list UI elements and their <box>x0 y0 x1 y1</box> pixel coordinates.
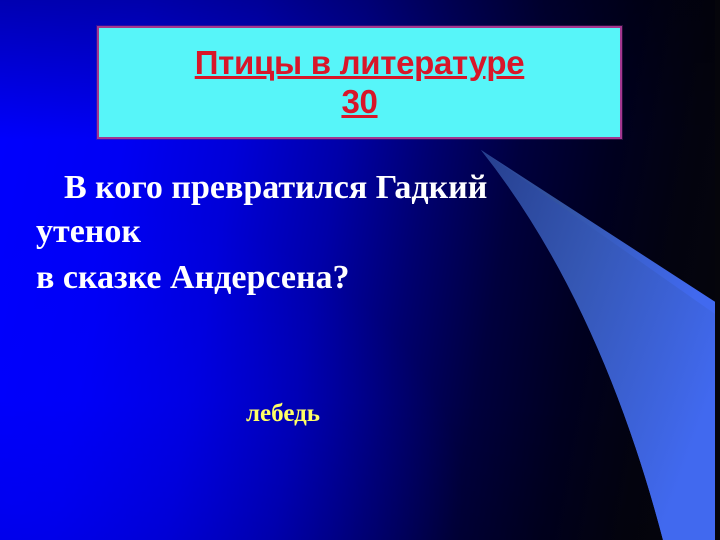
right-edge-strip <box>715 0 720 540</box>
category-title-text: Птицы в литературе 30 <box>195 44 525 122</box>
category-title-box: Птицы в литературе 30 <box>97 26 622 139</box>
question-paragraph-1: В кого превратился Гадкий утенок <box>36 166 556 254</box>
slide-canvas: Птицы в литературе 30 В кого превратился… <box>0 0 720 540</box>
question-paragraph-2: в сказке Андерсена? <box>36 256 556 300</box>
question-text-block: В кого превратился Гадкий утенок в сказк… <box>36 166 556 301</box>
answer-text: лебедь <box>0 400 566 428</box>
